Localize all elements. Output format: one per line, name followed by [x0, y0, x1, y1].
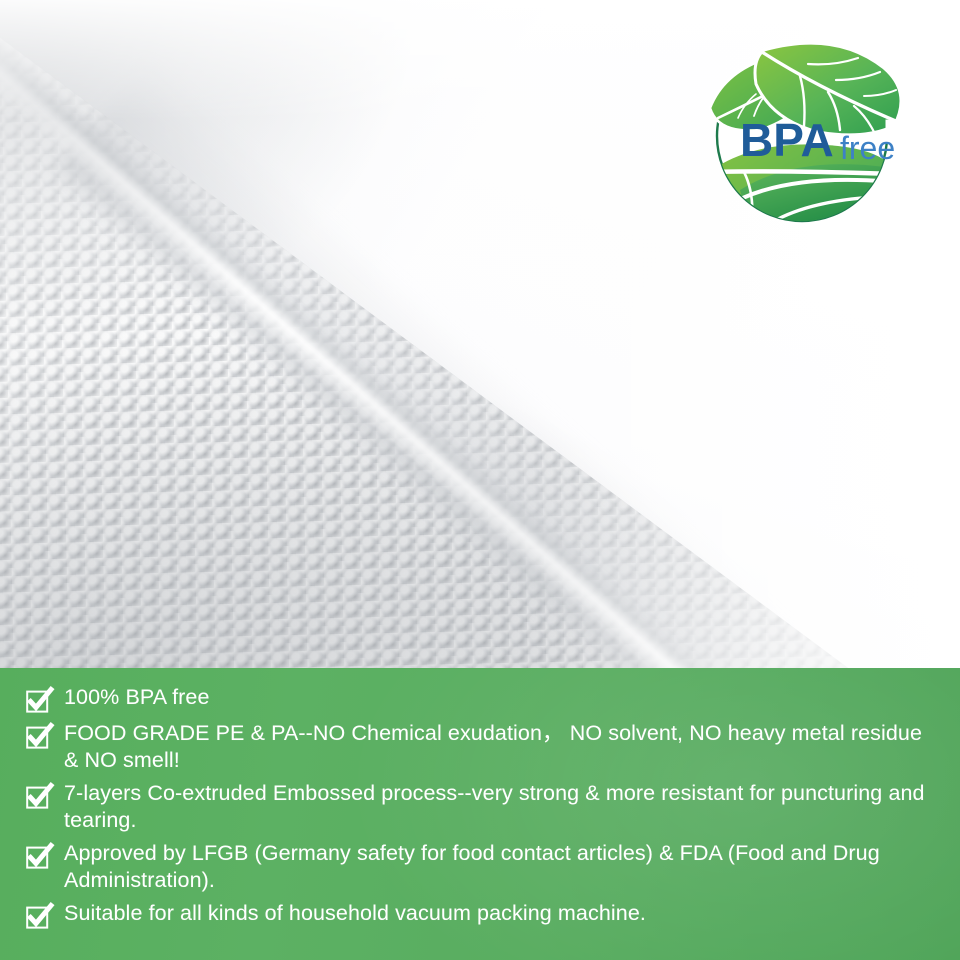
checkbox-checked-icon: [26, 784, 52, 810]
bpa-free-badge: BPA free: [688, 22, 916, 240]
features-panel: 100% BPA free FOOD GRADE PE & PA--NO Che…: [0, 668, 960, 960]
corner-shadow: [0, 0, 420, 360]
checkbox-checked-icon: [26, 724, 52, 750]
badge-main-text: BPA: [740, 114, 834, 166]
feature-item: 100% BPA free: [26, 684, 938, 714]
product-marketing-image: BPA free 100% BPA free FOOD GRADE: [0, 0, 960, 960]
feature-text: 7-layers Co-extruded Embossed process--v…: [64, 780, 938, 834]
checkbox-checked-icon: [26, 688, 52, 714]
product-photo: BPA free: [0, 0, 960, 672]
feature-item: 7-layers Co-extruded Embossed process--v…: [26, 780, 938, 834]
checkbox-checked-icon: [26, 904, 52, 930]
feature-text: FOOD GRADE PE & PA--NO Chemical exudatio…: [64, 720, 938, 774]
feature-text: Approved by LFGB (Germany safety for foo…: [64, 840, 938, 894]
bottom-shadow: [0, 332, 760, 672]
feature-item: Approved by LFGB (Germany safety for foo…: [26, 840, 938, 894]
feature-text: Suitable for all kinds of household vacu…: [64, 900, 646, 927]
checkbox-checked-icon: [26, 844, 52, 870]
badge-sub-text: free: [840, 130, 895, 166]
feature-item: Suitable for all kinds of household vacu…: [26, 900, 938, 930]
feature-text: 100% BPA free: [64, 684, 210, 711]
feature-item: FOOD GRADE PE & PA--NO Chemical exudatio…: [26, 720, 938, 774]
